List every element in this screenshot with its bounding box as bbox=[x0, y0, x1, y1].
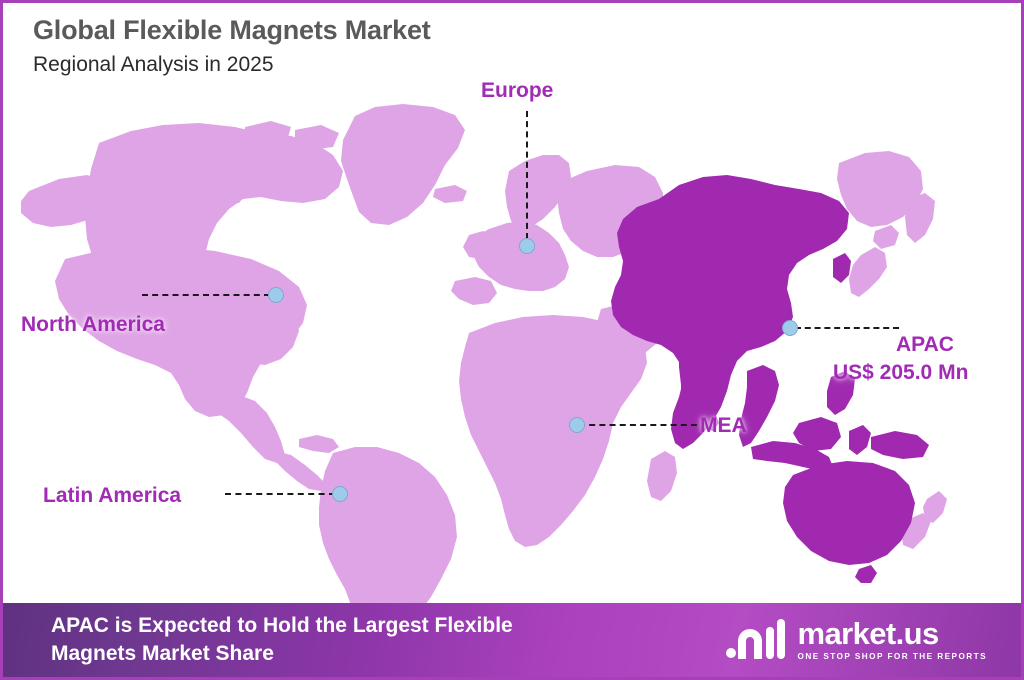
page-subtitle: Regional Analysis in 2025 bbox=[33, 53, 431, 77]
region-value-apac: US$ 205.0 Mn bbox=[833, 361, 968, 385]
connector-apac bbox=[795, 327, 899, 329]
connector-north-america bbox=[142, 294, 270, 296]
brand-wordmark: market.us ONE STOP SHOP FOR THE REPORTS bbox=[798, 618, 987, 661]
connector-europe bbox=[526, 111, 528, 239]
map-marker-europe[interactable] bbox=[519, 238, 535, 254]
connector-latin-america bbox=[225, 493, 335, 495]
region-label-mea: MEA bbox=[700, 414, 747, 438]
connector-mea bbox=[579, 424, 697, 426]
region-label-latin-america: Latin America bbox=[43, 484, 181, 508]
map-marker-apac[interactable] bbox=[782, 320, 798, 336]
header: Global Flexible Magnets Market Regional … bbox=[33, 15, 431, 77]
map-marker-mea[interactable] bbox=[569, 417, 585, 433]
bottom-banner: APAC is Expected to Hold the Largest Fle… bbox=[3, 603, 1021, 677]
page-title: Global Flexible Magnets Market bbox=[33, 15, 431, 46]
banner-headline: APAC is Expected to Hold the Largest Fle… bbox=[51, 612, 513, 667]
map-marker-north-america[interactable] bbox=[268, 287, 284, 303]
banner-headline-line1: APAC is Expected to Hold the Largest Fle… bbox=[51, 612, 513, 640]
brand-tagline: ONE STOP SHOP FOR THE REPORTS bbox=[798, 653, 987, 661]
market-us-logo-icon bbox=[724, 617, 786, 663]
infographic-poster: Global Flexible Magnets Market Regional … bbox=[0, 0, 1024, 680]
brand-name: market.us bbox=[798, 618, 987, 649]
region-label-europe: Europe bbox=[481, 79, 553, 103]
region-label-north-america: North America bbox=[21, 313, 165, 337]
brand-logo[interactable]: market.us ONE STOP SHOP FOR THE REPORTS bbox=[724, 617, 995, 663]
map-marker-latin-america[interactable] bbox=[332, 486, 348, 502]
banner-headline-line2: Magnets Market Share bbox=[51, 640, 513, 668]
region-label-apac: APAC bbox=[896, 333, 954, 357]
